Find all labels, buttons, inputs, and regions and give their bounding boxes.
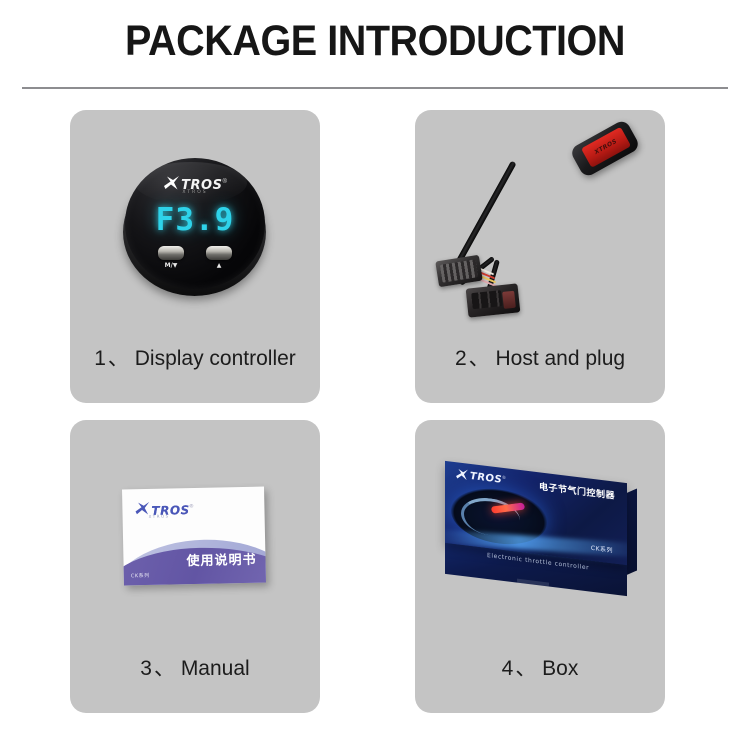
product-image-host-and-plug: XTROS <box>415 110 665 340</box>
controller-mode-down-button[interactable] <box>158 246 184 260</box>
xtros-star-icon <box>455 467 469 485</box>
controller-mode-down-label: M/▼ <box>156 262 186 269</box>
box-front-notch <box>517 579 549 590</box>
main-cable <box>452 161 516 271</box>
box-brand-logo: TROS® <box>455 467 506 489</box>
box-title-chinese: 电子节气门控制器 <box>539 479 615 501</box>
manual-series-label: CK系列 <box>131 572 150 579</box>
product-image-display-controller: TROS® XTROS F3.9 M/▼ ▲ <box>70 110 320 340</box>
connector-male <box>466 283 521 317</box>
caption-label: Box <box>542 657 578 680</box>
caption-number: 2 <box>455 347 467 370</box>
controller-up-label: ▲ <box>204 262 234 269</box>
box-logo-registered: ® <box>502 475 505 480</box>
page-title: PACKAGE INTRODUCTION <box>30 17 720 66</box>
controller-logo-registered: ® <box>222 179 226 185</box>
wiring-harness-assembly: XTROS <box>415 110 665 340</box>
connector-red-latch <box>502 291 516 309</box>
caption-separator: 、 <box>469 347 490 370</box>
caption-label: Display controller <box>135 347 296 370</box>
connector-female <box>435 255 483 288</box>
product-image-box: Electronic throttle controller <box>415 420 665 650</box>
caption-separator: 、 <box>108 347 129 370</box>
manual-booklet: TROS® XTROS 使用说明书 CK系列 <box>122 487 266 586</box>
caption-label: Manual <box>181 657 250 680</box>
manual-cover-title: 使用说明书 <box>186 549 256 569</box>
manual-logo-registered: ® <box>190 503 194 509</box>
manual-logo-subtitle: XTROS <box>149 514 170 519</box>
caption-label: Host and plug <box>495 347 625 370</box>
caption-box: 4、 Box <box>415 652 665 682</box>
controller-face: TROS® XTROS F3.9 M/▼ ▲ <box>125 158 265 289</box>
caption-number: 3 <box>140 657 152 680</box>
package-items-grid: TROS® XTROS F3.9 M/▼ ▲ 1、 Display contro… <box>0 110 750 720</box>
connector-slot <box>471 290 503 309</box>
retail-box: Electronic throttle controller <box>445 472 635 602</box>
package-item-host-and-plug[interactable]: XTROS 2、 Host and plug <box>415 110 665 403</box>
caption-manual: 3、 Manual <box>70 652 320 682</box>
display-controller-device: TROS® XTROS F3.9 M/▼ ▲ <box>121 158 269 300</box>
caption-display-controller: 1、 Display controller <box>70 342 320 372</box>
caption-number: 4 <box>502 657 514 680</box>
caption-separator: 、 <box>515 657 536 680</box>
controller-display-readout: F3.9 <box>125 202 265 238</box>
controller-logo-subtitle: XTROS <box>125 190 265 195</box>
controller-up-button[interactable] <box>206 246 232 260</box>
controller-button-group: M/▼ ▲ <box>155 246 235 278</box>
package-item-manual[interactable]: TROS® XTROS 使用说明书 CK系列 3、 Manual <box>70 420 320 713</box>
caption-number: 1 <box>94 347 106 370</box>
package-item-box[interactable]: Electronic throttle controller <box>415 420 665 713</box>
box-logo-word: TROS <box>470 472 502 486</box>
caption-separator: 、 <box>154 657 175 680</box>
package-item-display-controller[interactable]: TROS® XTROS F3.9 M/▼ ▲ 1、 Display contro… <box>70 110 320 403</box>
host-module: XTROS <box>569 119 641 179</box>
caption-host-and-plug: 2、 Host and plug <box>415 342 665 372</box>
title-divider <box>22 87 728 89</box>
connector-pin-ridges <box>440 259 478 282</box>
page-header: PACKAGE INTRODUCTION <box>0 0 750 90</box>
host-brand-logo: XTROS <box>584 133 627 161</box>
host-red-panel: XTROS <box>581 127 631 168</box>
product-image-manual: TROS® XTROS 使用说明书 CK系列 <box>70 420 320 650</box>
